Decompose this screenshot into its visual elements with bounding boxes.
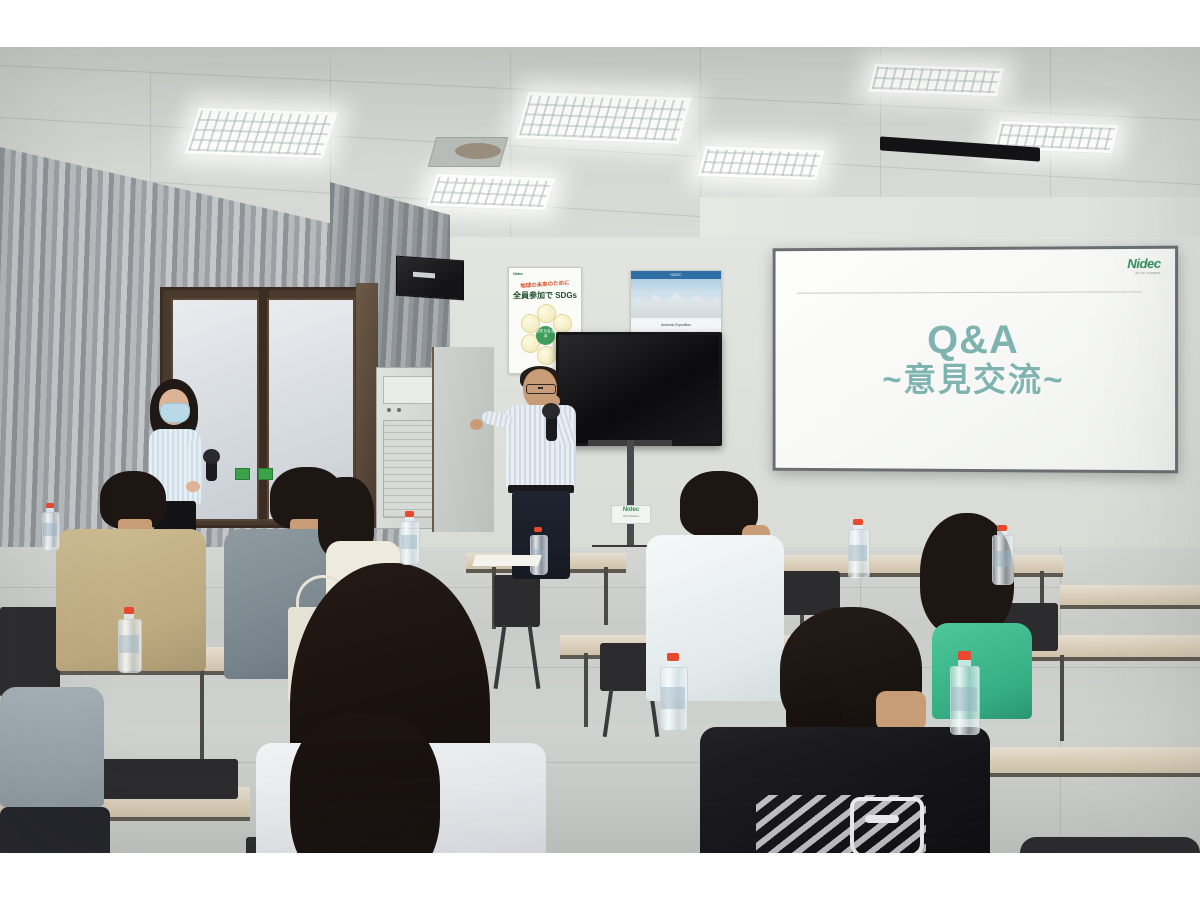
face-mask: [160, 403, 190, 423]
water-bottle[interactable]: [530, 527, 546, 573]
ceiling-speaker: [455, 143, 501, 159]
shirt-graphic-eye-icon: [865, 815, 899, 823]
shirt: [0, 687, 104, 807]
nidec-stand-logo: Nidec: [612, 506, 650, 515]
water-bottle[interactable]: [42, 503, 58, 549]
projected-slide: Nidec All for dreams Q&A ~意見交流~: [776, 249, 1176, 471]
table-leg: [584, 653, 588, 727]
left-hand: [470, 419, 483, 430]
poster-band-text: NIDEC: [631, 271, 721, 279]
bottle-label: [951, 687, 977, 711]
person-audience-black-graphic: [700, 607, 990, 853]
folding-chair[interactable]: [0, 607, 60, 697]
cabinet-indicator-icon: [387, 408, 391, 412]
person-audience-white-tee: [256, 563, 546, 853]
poster-band: NIDEC: [631, 271, 721, 279]
nidec-stand-sign: Nidec All for dreams: [611, 505, 651, 524]
cabinet-indicator-icon: [397, 408, 401, 412]
shirt: [1020, 837, 1200, 853]
water-bottle[interactable]: [400, 511, 418, 563]
person-audience-left-edge: [0, 687, 110, 807]
table-leg: [200, 669, 204, 761]
screenshot-root: Nidec 地球の未来のために 全員参加で SDGs 環境 社会 経済 NIDE…: [0, 0, 1200, 900]
slide-title-line1: Q&A: [776, 320, 1176, 360]
ceiling-light: [425, 173, 557, 211]
hair-front-strand: [290, 713, 440, 853]
bottle-cap: [958, 651, 971, 660]
water-bottle[interactable]: [848, 519, 868, 577]
water-bottle[interactable]: [118, 607, 140, 671]
water-bottle[interactable]: [992, 525, 1012, 583]
bottle-cap: [534, 527, 542, 532]
shirt-graphic-character-icon: [850, 797, 924, 853]
poster-flower-core: 環境 社会 経済: [536, 326, 555, 345]
bottle-label: [119, 635, 139, 653]
speaker-brand-label: [413, 272, 435, 279]
bottle-label: [43, 523, 57, 536]
water-bottle[interactable]: [950, 651, 978, 733]
table-leg: [604, 567, 608, 625]
table-leg: [1060, 655, 1064, 741]
poster-caption-area: Antarctic Expedition: [631, 318, 721, 333]
backpack: [0, 807, 110, 853]
poster-logo: Nidec: [513, 271, 523, 276]
slide-logo-tagline: All for dreams: [1127, 271, 1161, 275]
paper-sheet: [472, 555, 542, 566]
bottle-label: [661, 687, 685, 709]
poster-headline: 全員参加で SDGs: [512, 290, 578, 301]
slide-logo: Nidec All for dreams: [1127, 256, 1161, 275]
ceiling-light: [514, 91, 693, 145]
bottle-cap: [124, 607, 134, 614]
slide-title: Q&A ~意見交流~: [776, 320, 1176, 401]
nidec-stand-tagline: All for dreams: [612, 515, 650, 519]
classroom-table: [1060, 585, 1200, 609]
slide-logo-name: Nidec: [1127, 256, 1161, 271]
photograph: Nidec 地球の未来のために 全員参加で SDGs 環境 社会 経済 NIDE…: [0, 47, 1200, 853]
folding-chair[interactable]: [88, 759, 238, 799]
poster-ice-graphic: [631, 289, 721, 319]
bottle-label: [993, 551, 1011, 567]
classroom-table: [960, 747, 1200, 777]
eyeglasses-icon: [526, 384, 556, 394]
wall-cabinet: [432, 347, 494, 532]
wall-speaker: [396, 256, 464, 301]
projection-screen: Nidec All for dreams Q&A ~意見交流~: [773, 246, 1179, 474]
person-audience-far-right: [1020, 837, 1200, 853]
ceiling-light: [183, 107, 339, 160]
tv-stand-post: [627, 440, 634, 550]
microphone-head: [542, 403, 560, 419]
slide-divider: [797, 291, 1141, 293]
ceiling-light: [696, 145, 826, 181]
ceiling-light: [867, 63, 1005, 98]
bottle-label: [849, 545, 867, 561]
neck: [876, 691, 926, 731]
poster-caption: Antarctic Expedition: [631, 318, 721, 333]
bottle-label: [401, 535, 417, 549]
slide-title-line2: ~意見交流~: [776, 360, 1176, 400]
poster-landscape: NIDEC Antarctic Expedition: [630, 270, 722, 334]
microphone-head: [203, 449, 220, 464]
water-bottle[interactable]: [660, 653, 686, 729]
bottle-cap: [667, 653, 679, 661]
